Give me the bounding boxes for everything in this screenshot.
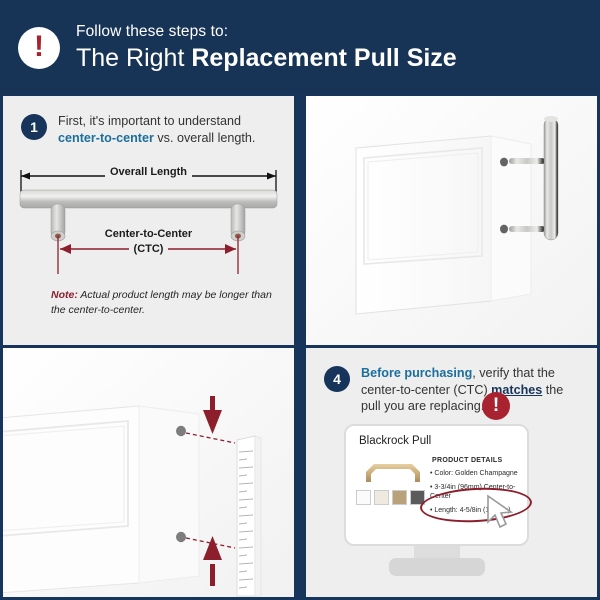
header-text-block: Follow these steps to: The Right Replace…: [76, 20, 457, 73]
step-4-head: 4 Before purchasing, verify that the cen…: [306, 348, 597, 415]
step-4-highlight: Before purchasing: [361, 366, 472, 380]
page-title: The Right Replacement Pull Size: [76, 44, 457, 73]
step-1-note: Note: Actual product length may be longe…: [51, 288, 281, 318]
step-1-head: 1 First, it's important to understand ce…: [3, 96, 294, 146]
pull-diagram-svg: [3, 166, 294, 286]
alert-exclamation-icon: !: [18, 27, 60, 69]
product-title: Blackrock Pull: [359, 435, 431, 447]
step-panel-2: 2 If you are replacing a pull, start by …: [306, 96, 597, 345]
step-1-text-part2: vs. overall length.: [154, 131, 256, 145]
step-panel-4: 4 Before purchasing, verify that the cen…: [306, 348, 597, 597]
step-panel-3: 3 Measure the distance between the cente…: [3, 348, 294, 597]
monitor-base: [389, 558, 485, 576]
thumbnail-2[interactable]: [374, 490, 389, 505]
monitor-screen: Blackrock Pull: [344, 424, 529, 546]
headline-light: The Right: [76, 44, 191, 72]
measure-screw-holes-illustration: [3, 348, 294, 597]
exclamation-glyph: !: [34, 32, 44, 62]
step-1-text: First, it's important to understand cent…: [58, 113, 278, 146]
step-1-highlight: center-to-center: [58, 131, 154, 145]
header-banner: ! Follow these steps to: The Right Repla…: [0, 0, 600, 93]
header-kicker: Follow these steps to:: [76, 22, 457, 41]
step-1-text-part1: First, it's important to understand: [58, 114, 241, 128]
ctc-sub-text: (CTC): [129, 243, 169, 255]
mouse-pointer-icon: [486, 494, 518, 530]
cabinet-with-pull-illustration: [306, 96, 597, 345]
overall-length-label: Overall Length: [3, 166, 294, 178]
thumbnail-1[interactable]: [356, 490, 371, 505]
product-thumbnails[interactable]: [356, 490, 425, 505]
red-alert-glyph: !: [493, 396, 499, 415]
ctc-sublabel: (CTC): [3, 243, 294, 255]
thumbnail-3[interactable]: [392, 490, 407, 505]
step-4-text: Before purchasing, verify that the cente…: [361, 365, 581, 415]
overall-length-text: Overall Length: [105, 166, 192, 178]
note-text: Actual product length may be longer than…: [51, 289, 272, 316]
step-4-number-badge: 4: [324, 366, 350, 392]
headline-bold: Replacement Pull Size: [191, 44, 456, 72]
note-label: Note:: [51, 289, 78, 301]
detail-item-color: • Color: Golden Champagne: [430, 469, 525, 479]
product-photo: [360, 456, 426, 486]
steps-grid: 1 First, it's important to understand ce…: [0, 93, 600, 600]
ctc-label: Center-to-Center: [3, 228, 294, 240]
product-details-heading: PRODUCT DETAILS: [432, 457, 502, 464]
step-1-number-badge: 1: [21, 114, 47, 140]
red-alert-exclamation-icon: !: [482, 392, 510, 420]
pull-measurement-diagram: Overall Length Center-to-Center (CTC): [3, 166, 294, 286]
infographic-root: ! Follow these steps to: The Right Repla…: [0, 0, 600, 600]
step-panel-1: 1 First, it's important to understand ce…: [3, 96, 294, 345]
